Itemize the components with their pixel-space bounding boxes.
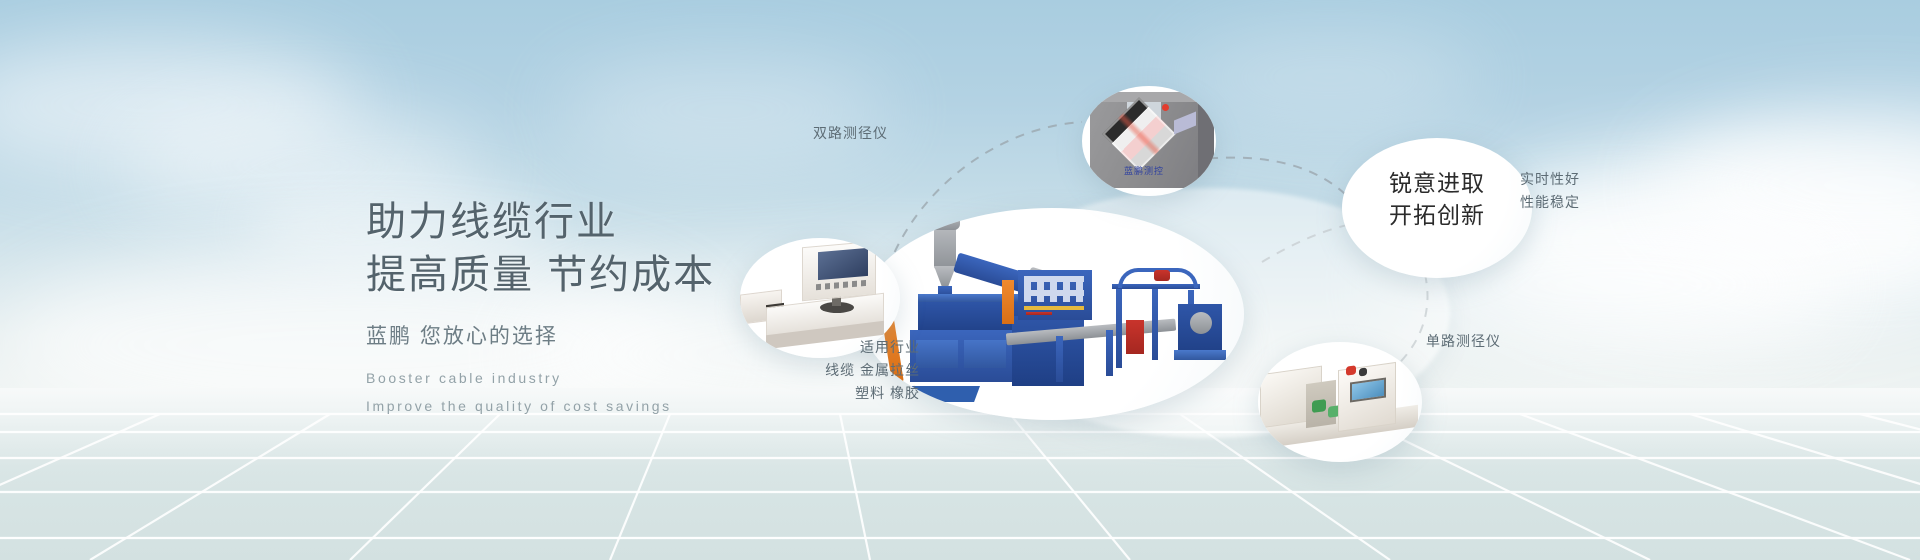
subheadline: 蓝鹏 您放心的选择 [366,320,715,350]
panel-warning-strip [1026,312,1052,315]
english-line-1: Booster cable industry [366,364,715,392]
bubble-single-gauge[interactable] [1258,342,1422,462]
optics-module-1 [1312,399,1326,413]
hopper-head [930,214,960,230]
panel-label-strip [1024,306,1084,310]
bubble-dual-gauge[interactable]: 蓝鹏测控 [1082,86,1216,196]
cabinet-side-duct [1002,280,1014,324]
winder-drum [1190,312,1212,334]
promo-banner: 助力线缆行业 提高质量 节约成本 蓝鹏 您放心的选择 Booster cable… [0,0,1920,560]
trough-leg-1 [1056,336,1063,382]
gantry-post-2 [1152,288,1158,360]
power-led-icon [1162,104,1169,111]
product-composition: 蓝鹏测控 [860,0,1920,560]
gantry-post-1 [1116,286,1122,368]
gantry-motor [1154,270,1170,281]
slogan-text: 锐意进取 开拓创新 [1342,168,1532,231]
device-brand-mark: 蓝鹏测控 [1082,164,1206,177]
dual-gauge-illustration: 蓝鹏测控 [1082,86,1216,196]
winder-base [1174,350,1226,360]
takeup-unit [1126,320,1144,354]
headline: 助力线缆行业 提高质量 节约成本 [366,196,715,302]
headline-line-1: 助力线缆行业 [366,196,715,249]
monitor-screen [818,248,868,280]
callout-dual-gauge: 双路测径仪 [798,122,888,145]
callout-single-gauge: 单路测径仪 [1426,330,1546,353]
single-gauge-illustration [1258,342,1422,462]
english-line-2: Improve the quality of cost savings [366,392,715,420]
hopper-tower [934,224,956,270]
extruder-base-face [916,340,958,368]
callout-industries: 适用行业 线缆 金属拉丝 塑料 橡胶 [760,336,920,405]
headline-block: 助力线缆行业 提高质量 节约成本 蓝鹏 您放心的选择 Booster cable… [366,196,715,420]
extruder-base-face-2 [964,340,1006,368]
panel-indicator-lights [1024,276,1084,302]
callout-features: 实时性好 性能稳定 [1520,168,1630,214]
english-tagline: Booster cable industry Improve the quali… [366,364,715,420]
headline-line-2: 提高质量 节约成本 [366,249,715,302]
trough-leg-2 [1106,330,1113,376]
